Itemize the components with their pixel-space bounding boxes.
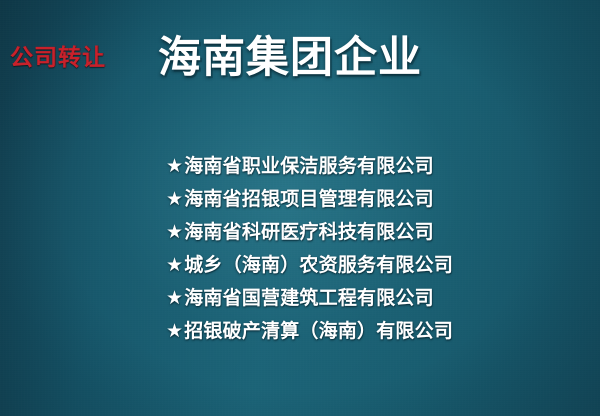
list-item[interactable]: ★海南省科研医疗科技有限公司: [166, 216, 586, 249]
company-name: 海南省招银项目管理有限公司: [184, 189, 434, 210]
star-icon: ★: [166, 216, 183, 249]
company-name: 海南省国营建筑工程有限公司: [184, 288, 434, 309]
poster-content: 公司转让 海南集团企业 ★海南省职业保洁服务有限公司 ★海南省招银项目管理有限公…: [0, 0, 600, 416]
company-name: 海南省科研医疗科技有限公司: [184, 222, 434, 243]
list-item[interactable]: ★招银破产清算（海南）有限公司: [166, 315, 586, 348]
list-item[interactable]: ★海南省国营建筑工程有限公司: [166, 282, 586, 315]
transfer-badge: 公司转让: [10, 46, 106, 69]
star-icon: ★: [166, 315, 183, 348]
company-name: 招银破产清算（海南）有限公司: [184, 321, 453, 342]
star-icon: ★: [166, 183, 183, 216]
star-icon: ★: [166, 249, 183, 282]
company-name: 海南省职业保洁服务有限公司: [184, 156, 434, 177]
company-name: 城乡（海南）农资服务有限公司: [184, 255, 453, 276]
star-icon: ★: [166, 282, 183, 315]
list-item[interactable]: ★海南省职业保洁服务有限公司: [166, 150, 586, 183]
company-list: ★海南省职业保洁服务有限公司 ★海南省招银项目管理有限公司 ★海南省科研医疗科技…: [166, 150, 586, 348]
promo-poster: 公司转让 海南集团企业 ★海南省职业保洁服务有限公司 ★海南省招银项目管理有限公…: [0, 0, 600, 416]
poster-header: 公司转让 海南集团企业: [0, 36, 600, 92]
page-title: 海南集团企业: [158, 36, 422, 81]
star-icon: ★: [166, 150, 183, 183]
list-item[interactable]: ★海南省招银项目管理有限公司: [166, 183, 586, 216]
list-item[interactable]: ★城乡（海南）农资服务有限公司: [166, 249, 586, 282]
